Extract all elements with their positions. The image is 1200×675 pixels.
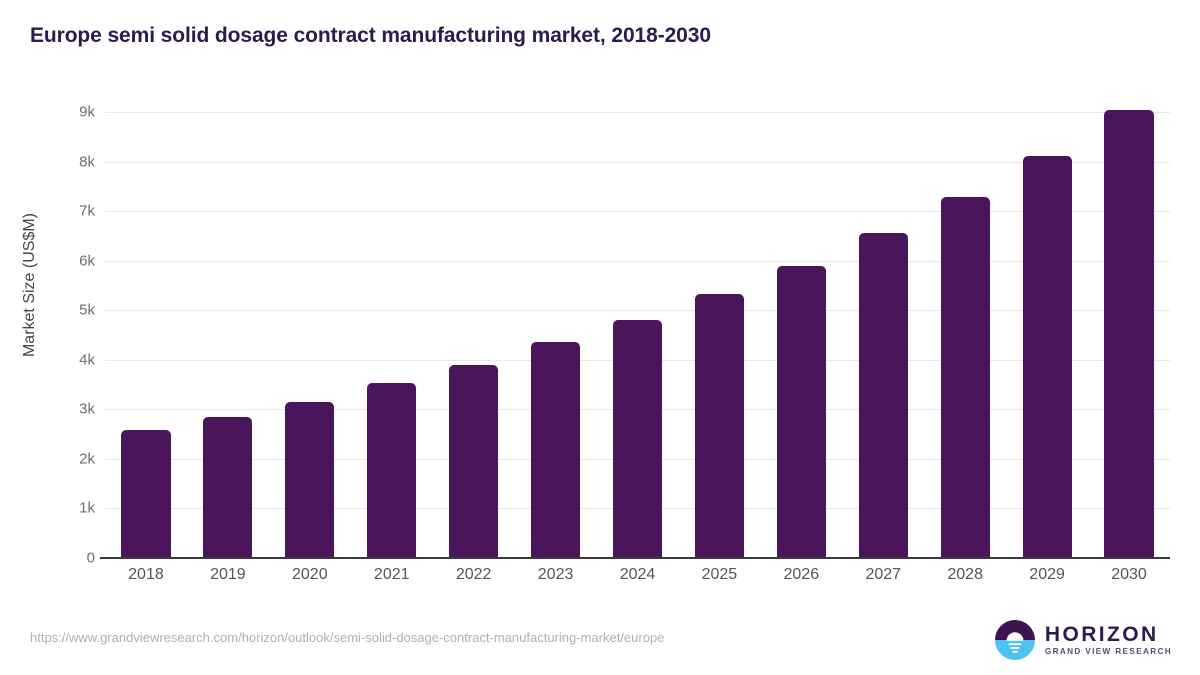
bar-slot bbox=[695, 112, 744, 558]
x-axis-tick-2018: 2018 bbox=[105, 566, 187, 584]
bar-2028[interactable] bbox=[941, 197, 990, 558]
x-axis-tick-2029: 2029 bbox=[1006, 566, 1088, 584]
bar-slot bbox=[203, 112, 252, 558]
logo-text: HORIZON GRAND VIEW RESEARCH bbox=[1045, 624, 1172, 656]
bar-slot bbox=[367, 112, 416, 558]
bar-slot bbox=[859, 112, 908, 558]
horizon-logo[interactable]: HORIZON GRAND VIEW RESEARCH bbox=[994, 618, 1172, 662]
bar-2018[interactable] bbox=[121, 430, 170, 558]
x-axis-tick-2028: 2028 bbox=[924, 566, 1006, 584]
bar-2022[interactable] bbox=[449, 365, 498, 558]
chart-screenshot: Europe semi solid dosage contract manufa… bbox=[0, 0, 1200, 675]
x-axis-tick-2024: 2024 bbox=[597, 566, 679, 584]
bar-series bbox=[105, 112, 1170, 558]
y-axis-tick: 8k bbox=[79, 153, 95, 170]
y-axis-tick: 4k bbox=[79, 351, 95, 368]
bar-slot bbox=[1104, 112, 1153, 558]
bar-2020[interactable] bbox=[285, 402, 334, 558]
x-axis-line bbox=[100, 557, 1170, 559]
x-axis-tick-labels: 2018201920202021202220232024202520262027… bbox=[105, 566, 1170, 596]
bar-2021[interactable] bbox=[367, 383, 416, 558]
bar-2027[interactable] bbox=[859, 233, 908, 558]
bar-slot bbox=[531, 112, 580, 558]
y-axis-tick: 9k bbox=[79, 104, 95, 121]
horizon-mark-icon bbox=[994, 619, 1036, 661]
x-axis-tick-2027: 2027 bbox=[842, 566, 924, 584]
x-axis-tick-2025: 2025 bbox=[678, 566, 760, 584]
bar-2029[interactable] bbox=[1023, 156, 1072, 558]
bar-2026[interactable] bbox=[777, 266, 826, 558]
bar-slot bbox=[285, 112, 334, 558]
bar-2019[interactable] bbox=[203, 417, 252, 558]
x-axis-tick-2020: 2020 bbox=[269, 566, 351, 584]
x-axis-tick-2021: 2021 bbox=[351, 566, 433, 584]
logo-wordmark: HORIZON bbox=[1045, 624, 1172, 645]
bar-slot bbox=[1023, 112, 1072, 558]
source-url[interactable]: https://www.grandviewresearch.com/horizo… bbox=[30, 630, 664, 645]
bar-2025[interactable] bbox=[695, 294, 744, 558]
logo-subtitle: GRAND VIEW RESEARCH bbox=[1045, 648, 1172, 656]
x-axis-tick-2030: 2030 bbox=[1088, 566, 1170, 584]
y-axis-tick: 6k bbox=[79, 252, 95, 269]
y-axis-tick: 5k bbox=[79, 302, 95, 319]
bar-slot bbox=[121, 112, 170, 558]
y-axis-tick: 7k bbox=[79, 203, 95, 220]
x-axis-tick-2026: 2026 bbox=[760, 566, 842, 584]
y-axis-tick: 2k bbox=[79, 450, 95, 467]
bar-slot bbox=[613, 112, 662, 558]
bar-2023[interactable] bbox=[531, 342, 580, 558]
bar-slot bbox=[449, 112, 498, 558]
bar-2030[interactable] bbox=[1104, 110, 1153, 558]
x-axis-tick-2023: 2023 bbox=[515, 566, 597, 584]
page-title: Europe semi solid dosage contract manufa… bbox=[30, 24, 711, 48]
x-axis-tick-2019: 2019 bbox=[187, 566, 269, 584]
bar-slot bbox=[941, 112, 990, 558]
y-axis-tick: 3k bbox=[79, 401, 95, 418]
bar-slot bbox=[777, 112, 826, 558]
bar-2024[interactable] bbox=[613, 320, 662, 558]
x-axis-tick-2022: 2022 bbox=[433, 566, 515, 584]
y-axis-tick: 1k bbox=[79, 500, 95, 517]
y-axis-tick: 0 bbox=[87, 550, 95, 567]
y-axis-tick-labels: 01k2k3k4k5k6k7k8k9k bbox=[0, 0, 95, 675]
